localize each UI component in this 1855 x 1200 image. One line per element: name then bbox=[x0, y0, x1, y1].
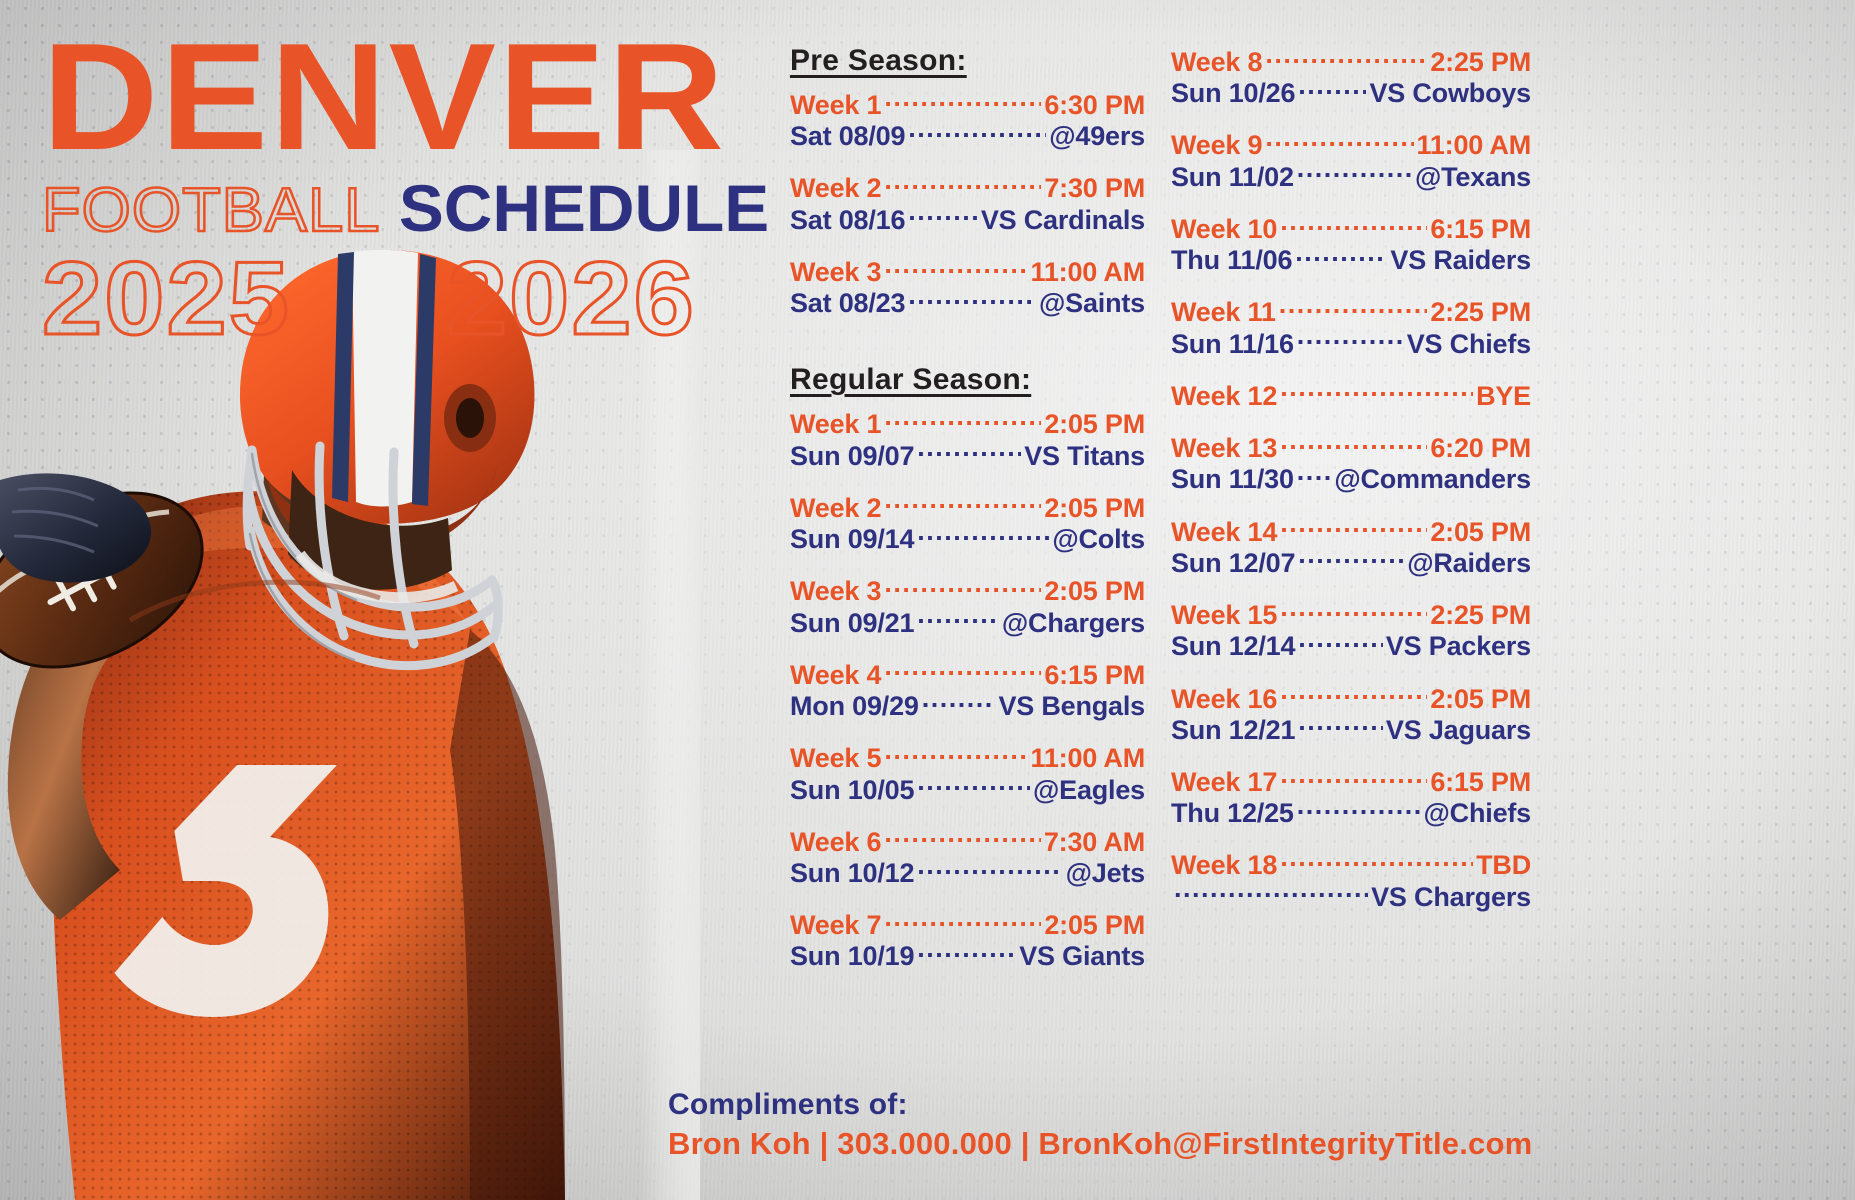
game-line-date-opponent: VS Chargers bbox=[1171, 879, 1531, 912]
leader-dots bbox=[884, 573, 1041, 600]
compliments-label: Compliments of: bbox=[668, 1088, 1532, 1122]
game-line-date-opponent: Sun 09/07VS Titans bbox=[790, 438, 1145, 471]
game-opponent: @Chiefs bbox=[1424, 798, 1531, 828]
game-week-label: Week 3 bbox=[790, 257, 881, 287]
leader-dots bbox=[1297, 159, 1412, 186]
leader-dots bbox=[1298, 628, 1383, 655]
game-date: Sun 10/26 bbox=[1171, 78, 1295, 108]
game-time: 6:15 PM bbox=[1044, 660, 1145, 690]
game-line-date-opponent: Sun 11/02@Texans bbox=[1171, 159, 1531, 192]
game-week-label: Week 8 bbox=[1171, 47, 1262, 77]
game-date: Sat 08/09 bbox=[790, 121, 905, 151]
season-year-end: 2026 bbox=[447, 240, 696, 359]
leader-dots bbox=[884, 657, 1041, 684]
title-season-years: 2025 2026 bbox=[42, 240, 812, 359]
game-week-label: Week 7 bbox=[790, 910, 881, 940]
game-line-week-time: Week 82:25 PM bbox=[1171, 44, 1531, 77]
title-schedule-word: SCHEDULE bbox=[399, 170, 769, 246]
leader-dots bbox=[884, 490, 1041, 517]
game-week-label: Week 3 bbox=[790, 576, 881, 606]
leader-dots bbox=[1280, 514, 1427, 541]
game-line-week-time: Week 27:30 PM bbox=[790, 170, 1145, 203]
leader-dots bbox=[884, 87, 1041, 114]
game-date: Sun 10/05 bbox=[790, 775, 914, 805]
game-time: BYE bbox=[1476, 381, 1531, 411]
leader-dots bbox=[1297, 795, 1421, 822]
game-date: Sun 11/02 bbox=[1171, 162, 1294, 192]
schedule-game-row: Week 27:30 PMSat 08/16VS Cardinals bbox=[790, 170, 1145, 234]
title-team-name: DENVER bbox=[42, 28, 826, 168]
schedule-game-row: Week 911:00 AMSun 11/02@Texans bbox=[1171, 127, 1531, 191]
schedule-game-row: Week 152:25 PMSun 12/14VS Packers bbox=[1171, 597, 1531, 661]
title-football-word: FOOTBALL bbox=[42, 175, 381, 246]
game-opponent: @Colts bbox=[1052, 524, 1145, 554]
game-week-label: Week 1 bbox=[790, 90, 881, 120]
leader-dots bbox=[908, 118, 1046, 145]
game-week-label: Week 10 bbox=[1171, 214, 1277, 244]
game-time: 2:05 PM bbox=[1044, 493, 1145, 523]
game-time: 11:00 AM bbox=[1031, 257, 1145, 287]
game-time: 2:05 PM bbox=[1044, 910, 1145, 940]
game-time: 7:30 PM bbox=[1044, 173, 1145, 203]
leader-dots bbox=[884, 254, 1027, 281]
game-time: 11:00 AM bbox=[1417, 130, 1531, 160]
game-time: 2:25 PM bbox=[1430, 297, 1531, 327]
schedule-game-row: Week 311:00 AMSat 08/23@Saints bbox=[790, 254, 1145, 318]
leader-dots bbox=[884, 740, 1027, 767]
leader-dots bbox=[1298, 545, 1404, 572]
leader-dots bbox=[1265, 127, 1413, 154]
game-opponent: VS Jaguars bbox=[1386, 715, 1531, 745]
game-line-week-time: Week 112:25 PM bbox=[1171, 294, 1531, 327]
leader-dots bbox=[1280, 764, 1427, 791]
schedule-game-row: Week 22:05 PMSun 09/14@Colts bbox=[790, 490, 1145, 554]
schedule-game-row: Week 176:15 PMThu 12/25@Chiefs bbox=[1171, 764, 1531, 828]
game-opponent: @49ers bbox=[1049, 121, 1145, 151]
schedule-column-right: Week 82:25 PMSun 10/26VS CowboysWeek 911… bbox=[1171, 44, 1531, 991]
game-line-date-opponent: Mon 09/29VS Bengals bbox=[790, 688, 1145, 721]
game-date: Sat 08/16 bbox=[790, 205, 905, 235]
game-line-week-time: Week 511:00 AM bbox=[790, 740, 1145, 773]
game-week-label: Week 16 bbox=[1171, 684, 1277, 714]
schedule-game-row: Week 18TBDVS Chargers bbox=[1171, 847, 1531, 911]
game-date: Thu 11/06 bbox=[1171, 245, 1292, 275]
game-line-week-time: Week 176:15 PM bbox=[1171, 764, 1531, 797]
game-week-label: Week 11 bbox=[1171, 297, 1276, 327]
game-week-label: Week 15 bbox=[1171, 600, 1277, 630]
game-opponent: VS Raiders bbox=[1390, 245, 1531, 275]
game-date: Sun 09/14 bbox=[790, 524, 914, 554]
game-week-label: Week 2 bbox=[790, 493, 881, 523]
game-date: Sun 10/19 bbox=[790, 941, 914, 971]
leader-dots bbox=[1298, 712, 1383, 739]
schedule-game-row: Week 67:30 AMSun 10/12@Jets bbox=[790, 824, 1145, 888]
game-week-label: Week 12 bbox=[1171, 381, 1277, 411]
schedule-game-row: Week 142:05 PMSun 12/07@Raiders bbox=[1171, 514, 1531, 578]
game-opponent: @Commanders bbox=[1334, 464, 1531, 494]
game-time: 2:05 PM bbox=[1430, 684, 1531, 714]
leader-dots bbox=[917, 772, 1030, 799]
title-subline: FOOTBALL SCHEDULE bbox=[42, 170, 797, 246]
game-week-label: Week 4 bbox=[790, 660, 881, 690]
leader-dots bbox=[1265, 44, 1427, 71]
game-time: 11:00 AM bbox=[1031, 743, 1145, 773]
leader-dots bbox=[1297, 326, 1404, 353]
schedule-game-row: Week 12BYE bbox=[1171, 378, 1531, 411]
leader-dots bbox=[1280, 211, 1427, 238]
game-line-week-time: Week 136:20 PM bbox=[1171, 430, 1531, 463]
leader-dots bbox=[917, 438, 1021, 465]
game-date: Thu 12/25 bbox=[1171, 798, 1294, 828]
season-year-start: 2025 bbox=[42, 240, 291, 359]
game-week-label: Week 2 bbox=[790, 173, 881, 203]
schedule-game-row: Week 82:25 PMSun 10/26VS Cowboys bbox=[1171, 44, 1531, 108]
leader-dots bbox=[917, 521, 1049, 548]
game-line-week-time: Week 67:30 AM bbox=[790, 824, 1145, 857]
leader-dots bbox=[1295, 242, 1387, 269]
game-line-date-opponent: Thu 11/06VS Raiders bbox=[1171, 242, 1531, 275]
game-opponent: @Jets bbox=[1066, 858, 1145, 888]
leader-dots bbox=[917, 605, 999, 632]
game-line-date-opponent: Sun 12/21VS Jaguars bbox=[1171, 712, 1531, 745]
game-time: 6:15 PM bbox=[1430, 214, 1531, 244]
poster-title-block: DENVER FOOTBALL SCHEDULE 2025 2026 bbox=[42, 28, 782, 359]
game-week-label: Week 14 bbox=[1171, 517, 1277, 547]
schedule-container: Pre Season: Week 16:30 PMSat 08/09@49ers… bbox=[790, 44, 1830, 991]
schedule-game-row: Week 136:20 PMSun 11/30@Commanders bbox=[1171, 430, 1531, 494]
game-week-label: Week 9 bbox=[1171, 130, 1262, 160]
game-date: Mon 09/29 bbox=[790, 691, 919, 721]
game-line-week-time: Week 18TBD bbox=[1171, 847, 1531, 880]
leader-dots bbox=[1280, 847, 1473, 874]
game-week-label: Week 17 bbox=[1171, 767, 1277, 797]
schedule-game-row: Week 511:00 AMSun 10/05@Eagles bbox=[790, 740, 1145, 804]
schedule-game-row: Week 112:25 PMSun 11/16VS Chiefs bbox=[1171, 294, 1531, 358]
schedule-column-left: Pre Season: Week 16:30 PMSat 08/09@49ers… bbox=[790, 44, 1145, 991]
game-week-label: Week 13 bbox=[1171, 433, 1277, 463]
game-time: 2:25 PM bbox=[1430, 600, 1531, 630]
game-line-date-opponent: Sun 12/07@Raiders bbox=[1171, 545, 1531, 578]
game-line-date-opponent: Sat 08/16VS Cardinals bbox=[790, 202, 1145, 235]
game-opponent: VS Cowboys bbox=[1369, 78, 1531, 108]
game-opponent: VS Cardinals bbox=[981, 205, 1145, 235]
game-line-date-opponent: Sun 09/14@Colts bbox=[790, 521, 1145, 554]
game-line-date-opponent: Sun 10/26VS Cowboys bbox=[1171, 75, 1531, 108]
footer-block: Compliments of: Bron Koh | 303.000.000 |… bbox=[668, 1088, 1532, 1162]
game-week-label: Week 1 bbox=[790, 409, 881, 439]
game-line-date-opponent: Sun 09/21@Chargers bbox=[790, 605, 1145, 638]
regular-season-game-list-right: Week 82:25 PMSun 10/26VS CowboysWeek 911… bbox=[1171, 44, 1531, 912]
game-time: 2:05 PM bbox=[1430, 517, 1531, 547]
schedule-game-row: Week 72:05 PMSun 10/19VS Giants bbox=[790, 907, 1145, 971]
game-date: Sun 11/16 bbox=[1171, 329, 1294, 359]
game-opponent: @Eagles bbox=[1033, 775, 1145, 805]
game-date: Sat 08/23 bbox=[790, 288, 905, 318]
game-line-date-opponent: Sun 10/05@Eagles bbox=[790, 772, 1145, 805]
game-line-week-time: Week 106:15 PM bbox=[1171, 211, 1531, 244]
game-line-week-time: Week 142:05 PM bbox=[1171, 514, 1531, 547]
game-line-week-time: Week 911:00 AM bbox=[1171, 127, 1531, 160]
leader-dots bbox=[908, 285, 1036, 312]
leader-dots bbox=[884, 170, 1041, 197]
leader-dots bbox=[884, 406, 1041, 433]
agent-contact-line[interactable]: Bron Koh | 303.000.000 | BronKoh@FirstIn… bbox=[668, 1126, 1532, 1162]
game-time: TBD bbox=[1476, 850, 1531, 880]
game-line-date-opponent: Sat 08/23@Saints bbox=[790, 285, 1145, 318]
game-line-week-time: Week 152:25 PM bbox=[1171, 597, 1531, 630]
game-opponent: VS Packers bbox=[1386, 631, 1531, 661]
game-opponent: VS Chargers bbox=[1371, 882, 1531, 912]
pre-season-game-list: Week 16:30 PMSat 08/09@49ersWeek 27:30 P… bbox=[790, 87, 1145, 318]
schedule-game-row: Week 162:05 PMSun 12/21VS Jaguars bbox=[1171, 681, 1531, 745]
game-date: Sun 10/12 bbox=[790, 858, 914, 888]
leader-dots bbox=[1280, 378, 1473, 405]
leader-dots bbox=[884, 907, 1041, 934]
schedule-game-row: Week 16:30 PMSat 08/09@49ers bbox=[790, 87, 1145, 151]
game-opponent: VS Giants bbox=[1019, 941, 1145, 971]
game-line-date-opponent: Sun 11/30@Commanders bbox=[1171, 461, 1531, 494]
regular-season-game-list-left: Week 12:05 PMSun 09/07VS TitansWeek 22:0… bbox=[790, 406, 1145, 971]
leader-dots bbox=[908, 202, 978, 229]
leader-dots bbox=[1280, 430, 1427, 457]
game-line-date-opponent: Sun 12/14VS Packers bbox=[1171, 628, 1531, 661]
game-date: Sun 12/07 bbox=[1171, 548, 1295, 578]
game-time: 2:05 PM bbox=[1044, 576, 1145, 606]
game-time: 6:20 PM bbox=[1430, 433, 1531, 463]
game-opponent: @Texans bbox=[1415, 162, 1531, 192]
game-time: 6:30 PM bbox=[1044, 90, 1145, 120]
game-line-week-time: Week 16:30 PM bbox=[790, 87, 1145, 120]
leader-dots bbox=[1279, 294, 1428, 321]
game-line-week-time: Week 12BYE bbox=[1171, 378, 1531, 411]
game-time: 6:15 PM bbox=[1430, 767, 1531, 797]
game-week-label: Week 18 bbox=[1171, 850, 1277, 880]
schedule-game-row: Week 46:15 PMMon 09/29VS Bengals bbox=[790, 657, 1145, 721]
game-line-week-time: Week 12:05 PM bbox=[790, 406, 1145, 439]
game-time: 7:30 AM bbox=[1044, 827, 1145, 857]
game-opponent: VS Bengals bbox=[998, 691, 1145, 721]
pre-season-heading: Pre Season: bbox=[790, 44, 1145, 78]
game-opponent: @Saints bbox=[1039, 288, 1145, 318]
game-line-date-opponent: Sun 10/19VS Giants bbox=[790, 938, 1145, 971]
game-date: Sun 09/21 bbox=[790, 608, 914, 638]
game-week-label: Week 5 bbox=[790, 743, 881, 773]
game-date: Sun 09/07 bbox=[790, 441, 914, 471]
game-line-date-opponent: Sat 08/09@49ers bbox=[790, 118, 1145, 151]
leader-dots bbox=[884, 824, 1040, 851]
leader-dots bbox=[922, 688, 996, 715]
schedule-game-row: Week 32:05 PMSun 09/21@Chargers bbox=[790, 573, 1145, 637]
regular-season-heading: Regular Season: bbox=[790, 363, 1145, 397]
game-line-week-time: Week 162:05 PM bbox=[1171, 681, 1531, 714]
leader-dots bbox=[1174, 879, 1368, 906]
game-date: Sun 11/30 bbox=[1171, 464, 1294, 494]
game-date: Sun 12/14 bbox=[1171, 631, 1295, 661]
game-line-date-opponent: Sun 11/16VS Chiefs bbox=[1171, 326, 1531, 359]
game-opponent: @Chargers bbox=[1002, 608, 1145, 638]
game-time: 2:25 PM bbox=[1430, 47, 1531, 77]
game-week-label: Week 6 bbox=[790, 827, 881, 857]
game-opponent: VS Titans bbox=[1024, 441, 1145, 471]
game-line-week-time: Week 46:15 PM bbox=[790, 657, 1145, 690]
game-line-week-time: Week 32:05 PM bbox=[790, 573, 1145, 606]
game-date: Sun 12/21 bbox=[1171, 715, 1295, 745]
game-line-date-opponent: Thu 12/25@Chiefs bbox=[1171, 795, 1531, 828]
schedule-game-row: Week 106:15 PMThu 11/06VS Raiders bbox=[1171, 211, 1531, 275]
game-opponent: @Raiders bbox=[1407, 548, 1531, 578]
game-opponent: VS Chiefs bbox=[1407, 329, 1531, 359]
game-line-date-opponent: Sun 10/12@Jets bbox=[790, 855, 1145, 888]
leader-dots bbox=[917, 855, 1062, 882]
leader-dots bbox=[1297, 461, 1332, 488]
leader-dots bbox=[917, 938, 1016, 965]
leader-dots bbox=[1280, 597, 1427, 624]
leader-dots bbox=[1280, 681, 1427, 708]
game-line-week-time: Week 72:05 PM bbox=[790, 907, 1145, 940]
game-time: 2:05 PM bbox=[1044, 409, 1145, 439]
game-line-week-time: Week 311:00 AM bbox=[790, 254, 1145, 287]
game-line-week-time: Week 22:05 PM bbox=[790, 490, 1145, 523]
schedule-game-row: Week 12:05 PMSun 09/07VS Titans bbox=[790, 406, 1145, 470]
leader-dots bbox=[1298, 75, 1366, 102]
